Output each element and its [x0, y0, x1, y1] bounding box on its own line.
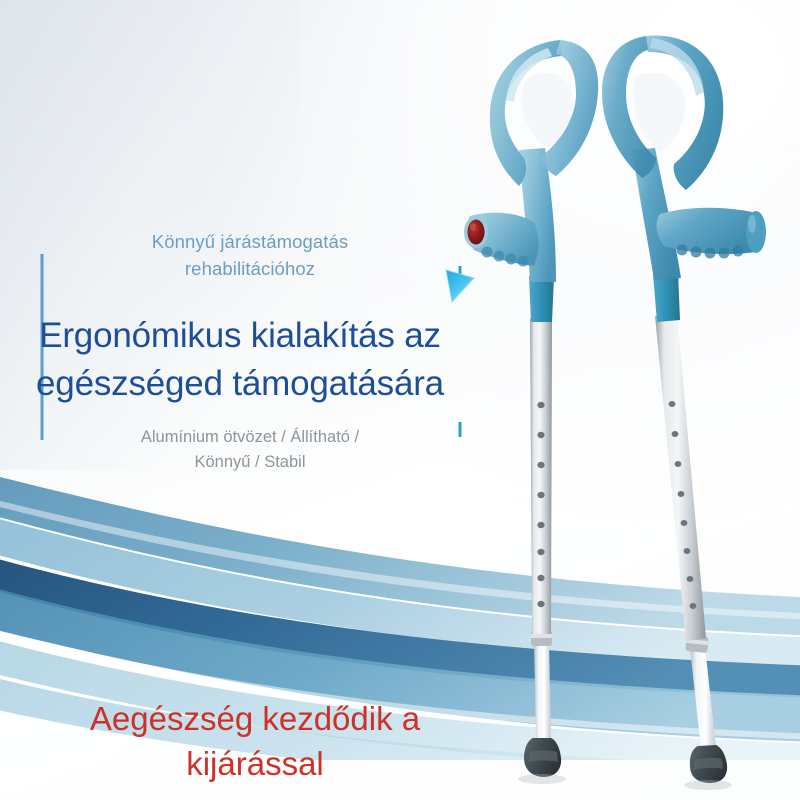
spec-line-1: Alumínium ötvözet / Állítható /	[70, 425, 430, 450]
footer-slogan-line-1: Aegészség kezdődik a	[30, 696, 480, 741]
headline-line-1: Ergonómikus kialakítás az	[30, 312, 450, 360]
headline-line-2: egészséged támogatására	[30, 360, 450, 408]
spec-line-2: Könnyű / Stabil	[70, 450, 430, 475]
callout-arrow-icon	[440, 268, 490, 314]
headline: Ergonómikus kialakítás az egészséged tám…	[30, 312, 450, 408]
footer-slogan-line-2: kijárással	[30, 741, 480, 786]
top-caption-line-1: Könnyű járástámogatás	[72, 228, 428, 255]
footer-slogan: Aegészség kezdődik a kijárással	[30, 696, 480, 786]
top-caption-line-2: rehabilitációhoz	[72, 255, 428, 282]
callout-top-caption: Könnyű járástámogatás rehabilitációhoz	[72, 228, 428, 282]
product-banner: Könnyű járástámogatás rehabilitációhoz E…	[0, 0, 800, 800]
spec-caption: Alumínium ötvözet / Állítható / Könnyű /…	[70, 425, 430, 475]
